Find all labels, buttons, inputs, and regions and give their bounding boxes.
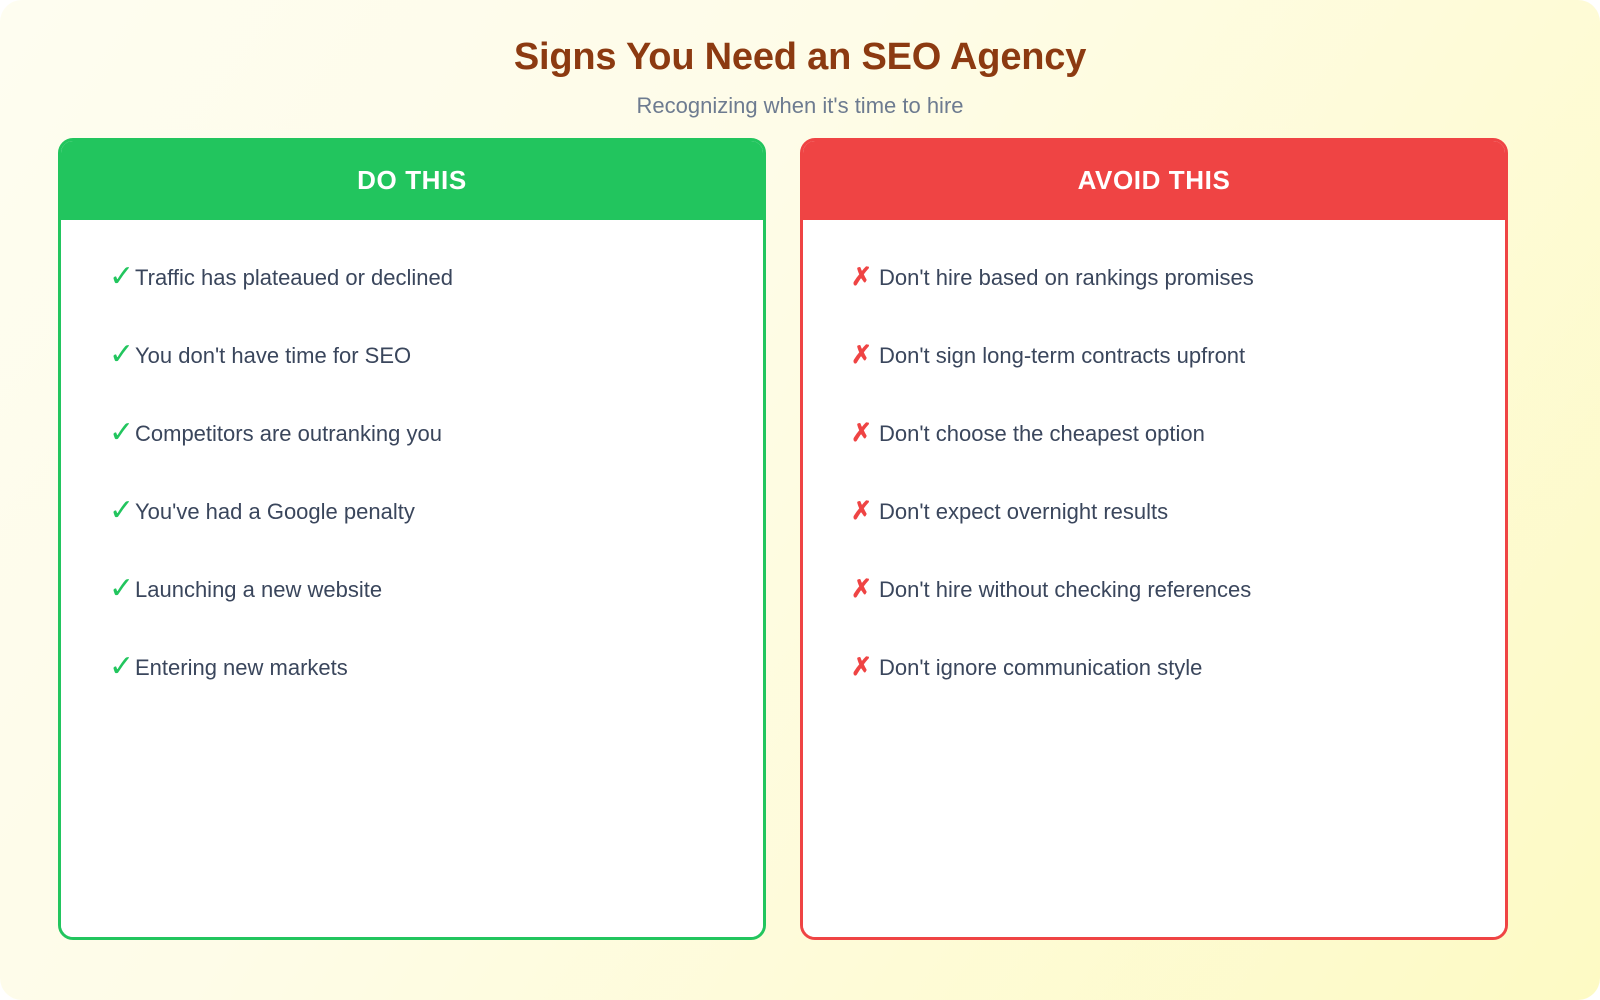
list-item-label: Entering new markets	[135, 654, 735, 681]
list-item: ✓ Traffic has plateaued or declined	[89, 264, 735, 342]
cross-icon: ✗	[831, 654, 877, 680]
avoid-this-card: AVOID THIS ✗ Don't hire based on ranking…	[800, 138, 1508, 940]
do-this-header: DO THIS	[60, 140, 764, 220]
list-item-label: Don't ignore communication style	[877, 654, 1477, 681]
check-icon: ✓	[89, 420, 135, 446]
list-item-label: Competitors are outranking you	[135, 420, 735, 447]
cross-icon: ✗	[831, 420, 877, 446]
list-item: ✗ Don't ignore communication style	[831, 654, 1477, 732]
list-item: ✓ Launching a new website	[89, 576, 735, 654]
cross-icon: ✗	[831, 264, 877, 290]
list-item-label: Don't choose the cheapest option	[877, 420, 1477, 447]
list-item: ✓ Entering new markets	[89, 654, 735, 732]
comparison-columns: DO THIS ✓ Traffic has plateaued or decli…	[58, 138, 1508, 940]
list-item: ✓ You've had a Google penalty	[89, 498, 735, 576]
check-icon: ✓	[89, 342, 135, 368]
page-subtitle: Recognizing when it's time to hire	[0, 93, 1600, 119]
list-item-label: You don't have time for SEO	[135, 342, 735, 369]
list-item-label: You've had a Google penalty	[135, 498, 735, 525]
check-icon: ✓	[89, 576, 135, 602]
list-item-label: Don't sign long-term contracts upfront	[877, 342, 1477, 369]
list-item-label: Don't expect overnight results	[877, 498, 1477, 525]
cross-icon: ✗	[831, 576, 877, 602]
avoid-this-list: ✗ Don't hire based on rankings promises …	[803, 220, 1505, 937]
cross-icon: ✗	[831, 342, 877, 368]
list-item-label: Don't hire based on rankings promises	[877, 264, 1477, 291]
check-icon: ✓	[89, 654, 135, 680]
do-this-list: ✓ Traffic has plateaued or declined ✓ Yo…	[61, 220, 763, 937]
list-item: ✗ Don't hire based on rankings promises	[831, 264, 1477, 342]
check-icon: ✓	[89, 498, 135, 524]
list-item: ✗ Don't expect overnight results	[831, 498, 1477, 576]
avoid-this-header: AVOID THIS	[802, 140, 1506, 220]
list-item-label: Traffic has plateaued or declined	[135, 264, 735, 291]
list-item: ✗ Don't hire without checking references	[831, 576, 1477, 654]
page-header: Signs You Need an SEO Agency Recognizing…	[0, 0, 1600, 119]
list-item-label: Don't hire without checking references	[877, 576, 1477, 603]
list-item: ✓ You don't have time for SEO	[89, 342, 735, 420]
do-this-card: DO THIS ✓ Traffic has plateaued or decli…	[58, 138, 766, 940]
list-item: ✗ Don't sign long-term contracts upfront	[831, 342, 1477, 420]
check-icon: ✓	[89, 264, 135, 290]
list-item: ✗ Don't choose the cheapest option	[831, 420, 1477, 498]
cross-icon: ✗	[831, 498, 877, 524]
infographic-page: Signs You Need an SEO Agency Recognizing…	[0, 0, 1600, 1000]
list-item: ✓ Competitors are outranking you	[89, 420, 735, 498]
list-item-label: Launching a new website	[135, 576, 735, 603]
page-title: Signs You Need an SEO Agency	[0, 36, 1600, 80]
